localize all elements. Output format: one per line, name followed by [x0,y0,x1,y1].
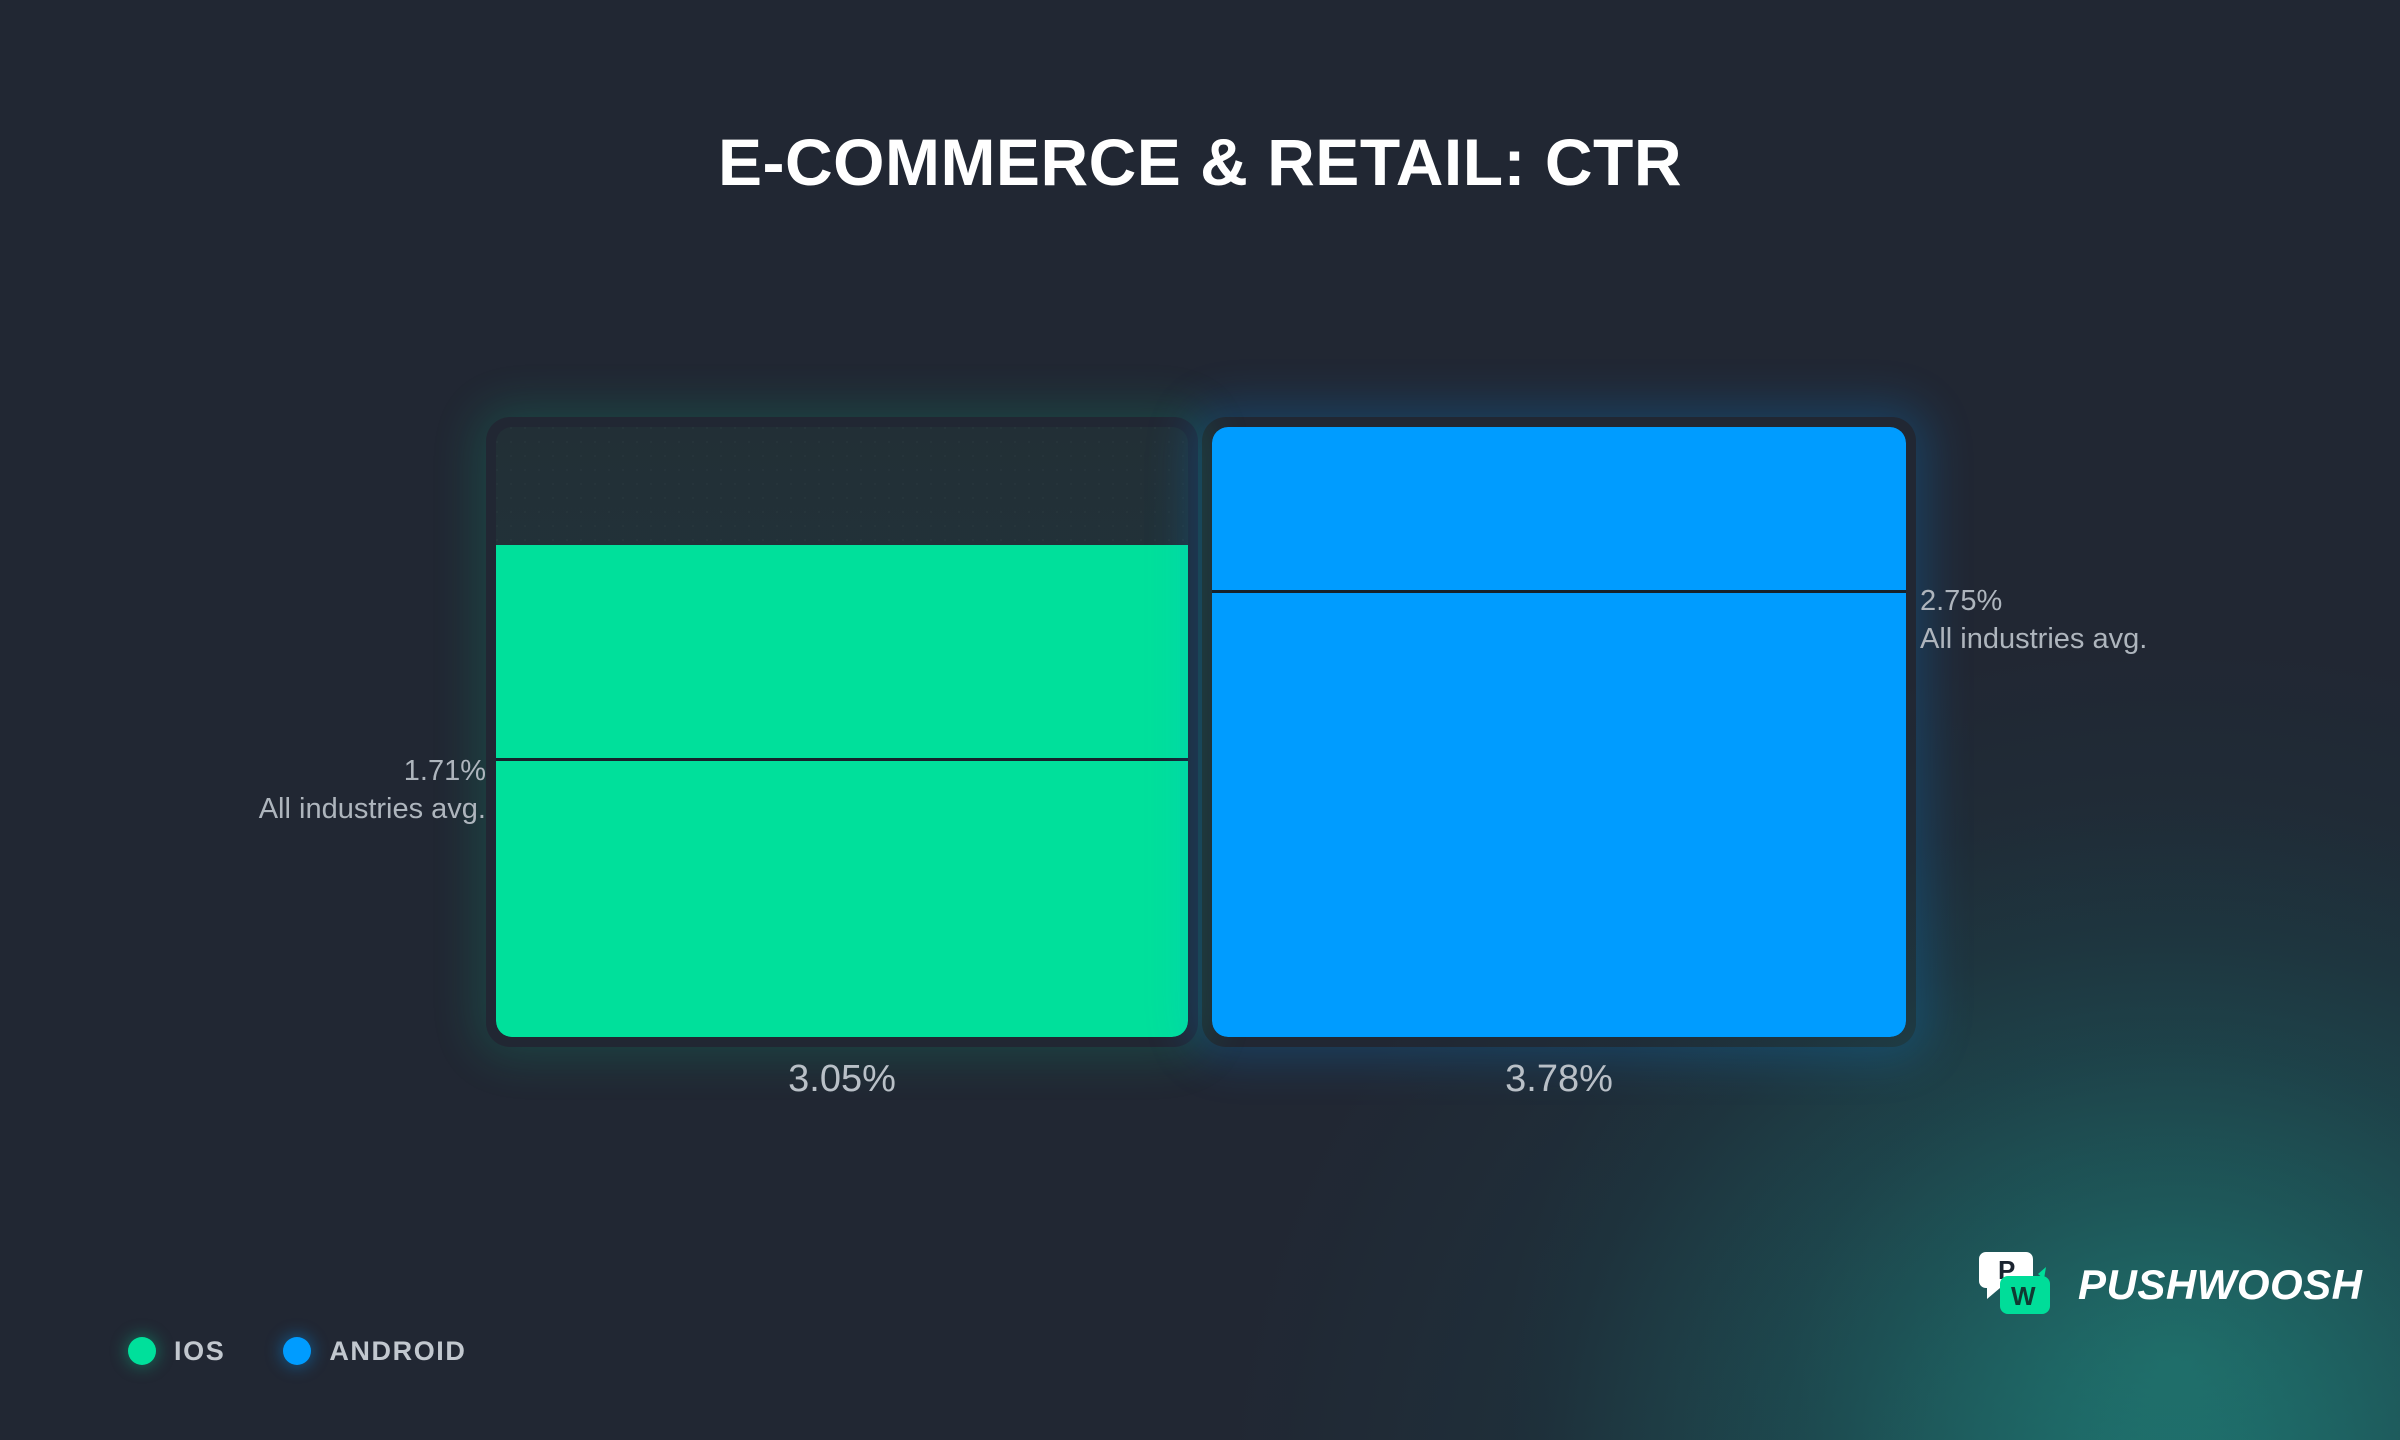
benchmark-line-android [1212,590,1906,593]
chart-slide: E-COMMERCE & RETAIL: CTR 1.71% All indus… [0,0,2400,1440]
legend-item-android[interactable]: ANDROID [283,1336,466,1367]
legend-label-ios: IOS [174,1336,225,1367]
bar-value-label-android: 3.78% [1212,1058,1906,1101]
benchmark-value-ios: 1.71% [0,752,486,790]
benchmark-caption-ios: All industries avg. [0,790,486,828]
pushwoosh-mark-icon: P W [1978,1248,2056,1322]
svg-text:W: W [2011,1281,2036,1311]
bar-track-ios [496,427,1188,1037]
legend-dot-android-icon [283,1337,311,1365]
bar-column-android [1212,427,1906,1037]
chart-title: E-COMMERCE & RETAIL: CTR [0,124,2400,200]
benchmark-value-android: 2.75% [1920,582,2147,620]
chart-legend: IOS ANDROID [128,1262,467,1440]
pushwoosh-logo[interactable]: P W PUSHWOOSH [1978,1248,2363,1322]
benchmark-annotation-ios: 1.71% All industries avg. [0,752,486,828]
bar-track-android [1212,427,1906,1037]
bar-value-label-ios: 3.05% [496,1058,1188,1101]
pushwoosh-wordmark: PUSHWOOSH [2078,1261,2363,1309]
benchmark-annotation-android: 2.75% All industries avg. [1920,582,2147,658]
legend-item-ios[interactable]: IOS [128,1336,225,1367]
bar-fill-ios[interactable] [496,545,1188,1037]
benchmark-caption-android: All industries avg. [1920,620,2147,658]
bar-column-ios [496,427,1188,1037]
legend-dot-ios-icon [128,1337,156,1365]
plot-area [496,427,1906,1037]
legend-label-android: ANDROID [329,1336,466,1367]
bar-fill-android[interactable] [1212,427,1906,1037]
benchmark-line-ios [496,758,1188,761]
